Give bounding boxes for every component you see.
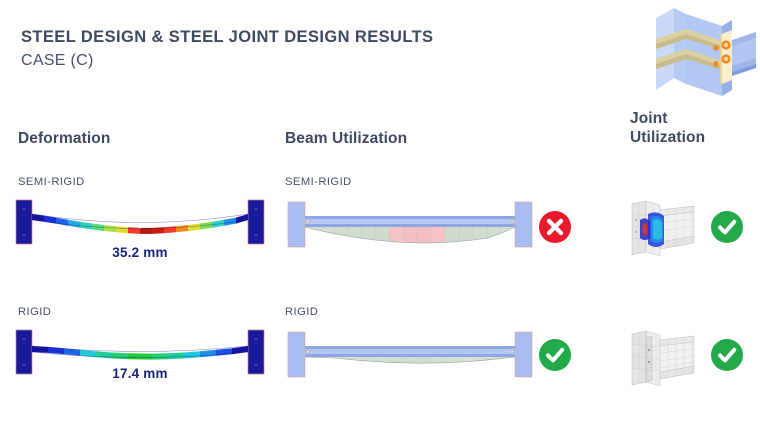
row-label-beam-semi-rigid: SEMI-RIGID [285,176,352,188]
page-subtitle: CASE (C) [21,51,433,70]
row-label-beam-rigid: RIGID [285,306,318,318]
joint-fe-model-mesh-icon [626,328,704,388]
success-check-icon [710,210,744,244]
beam-utilization-diagram-icon [286,330,534,382]
page-title: STEEL DESIGN & STEEL JOINT DESIGN RESULT… [21,28,433,47]
error-cross-icon [538,210,572,244]
joint-fe-model-stress-icon [626,198,704,258]
row-label-deformation-semi-rigid: SEMI-RIGID [18,176,85,188]
deformed-beam-contour-icon [14,198,266,246]
slide-canvas: STEEL DESIGN & STEEL JOINT DESIGN RESULT… [0,0,760,428]
column-heading-deformation: Deformation [18,130,110,148]
steel-beam-column-connection-3d-icon [652,4,760,100]
header-block: STEEL DESIGN & STEEL JOINT DESIGN RESULT… [21,28,433,70]
joint-heading-line2: Utilization [630,129,705,148]
beam-utilization-diagram-icon [286,200,534,252]
column-heading-joint-utilization: Joint Utilization [630,110,705,148]
joint-heading-line1: Joint [630,110,705,129]
success-check-icon [710,338,744,372]
deformation-value-semi-rigid: 35.2 mm [60,245,220,260]
deformation-value-rigid: 17.4 mm [60,366,220,381]
column-heading-beam-utilization: Beam Utilization [285,130,407,148]
success-check-icon [538,338,572,372]
row-label-deformation-rigid: RIGID [18,306,51,318]
